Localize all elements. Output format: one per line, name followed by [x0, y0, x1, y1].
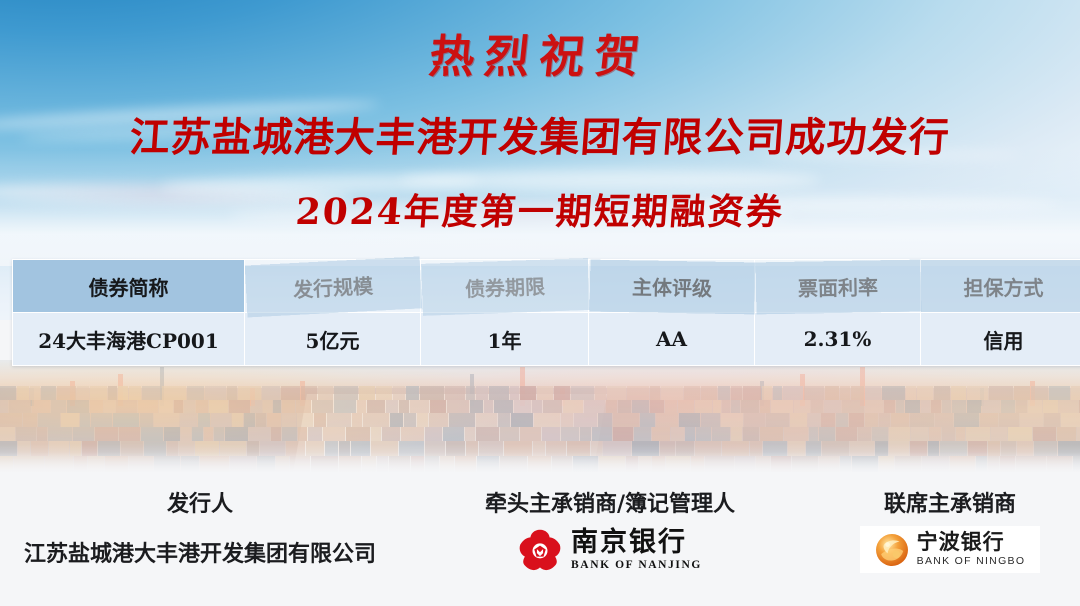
footer-joint-underwriter-block: 联席主承销商 — [820, 486, 1080, 573]
ningbo-sphere-icon — [875, 533, 909, 567]
footer-lead-underwriter-block: 牵头主承销商/簿记管理人 — [400, 486, 820, 572]
table-cell-issue-size: 5亿元 — [245, 313, 421, 366]
lead-underwriter-label: 牵头主承销商/簿记管理人 — [400, 486, 820, 518]
table-cell-bond-name: 24大丰海港CP001 — [13, 313, 245, 366]
table-header-cell: 票面利率 — [754, 258, 921, 314]
table-cell-coupon-rate: 2.31% — [755, 313, 921, 366]
table-header-cell: 发行规模 — [243, 255, 422, 317]
ningbo-wordmark: 宁波银行 BANK OF NINGBO — [917, 532, 1026, 567]
table-header-cell: 主体评级 — [588, 258, 755, 314]
footer-issuer-block: 发行人 江苏盐城港大丰港开发集团有限公司 — [0, 486, 400, 568]
bond-announcement-line: 2024年度第一期短期融资券 — [0, 183, 1080, 235]
table-cell-rating: AA — [589, 313, 755, 366]
issuer-label: 发行人 — [0, 486, 400, 518]
nanjing-wordmark: 南京银行 BANK OF NANJING — [571, 529, 702, 572]
bank-of-ningbo-logo: 宁波银行 BANK OF NINGBO — [860, 526, 1040, 573]
table-header-row: 债券简称 发行规模 债券期限 主体评级 票面利率 担保方式 — [13, 260, 1080, 313]
background-bottom-fade — [0, 452, 1080, 472]
congratulation-poster: 热烈祝贺 江苏盐城港大丰港开发集团有限公司成功发行 2024年度第一期短期融资券… — [0, 0, 1080, 606]
issuer-announcement-line: 江苏盐城港大丰港开发集团有限公司成功发行 — [0, 105, 1080, 163]
issuer-name: 江苏盐城港大丰港开发集团有限公司 — [0, 536, 400, 568]
bank-of-ningbo-name-en: BANK OF NINGBO — [917, 556, 1026, 567]
bank-of-nanjing-logo: 南京银行 BANK OF NANJING — [400, 528, 820, 572]
table-row: 24大丰海港CP001 5亿元 1年 AA 2.31% 信用 — [13, 313, 1080, 366]
footer: 发行人 江苏盐城港大丰港开发集团有限公司 牵头主承销商/簿记管理人 — [0, 472, 1080, 606]
joint-underwriter-label: 联席主承销商 — [820, 486, 1080, 518]
table-header-cell: 债券简称 — [13, 260, 245, 313]
bank-of-nanjing-name-cn: 南京银行 — [571, 529, 702, 556]
table-cell-guarantee: 信用 — [921, 313, 1080, 366]
bond-details-table: 债券简称 发行规模 债券期限 主体评级 票面利率 担保方式 24大丰海港CP00… — [12, 259, 1080, 366]
table-cell-bond-term: 1年 — [421, 313, 589, 366]
bank-of-nanjing-name-en: BANK OF NANJING — [571, 560, 702, 572]
page-title: 热烈祝贺 — [0, 20, 1080, 85]
table-header-cell: 担保方式 — [921, 260, 1080, 313]
bank-of-ningbo-name-cn: 宁波银行 — [917, 532, 1026, 553]
nanjing-flower-icon — [518, 528, 562, 572]
table-header-cell: 债券期限 — [420, 257, 590, 316]
